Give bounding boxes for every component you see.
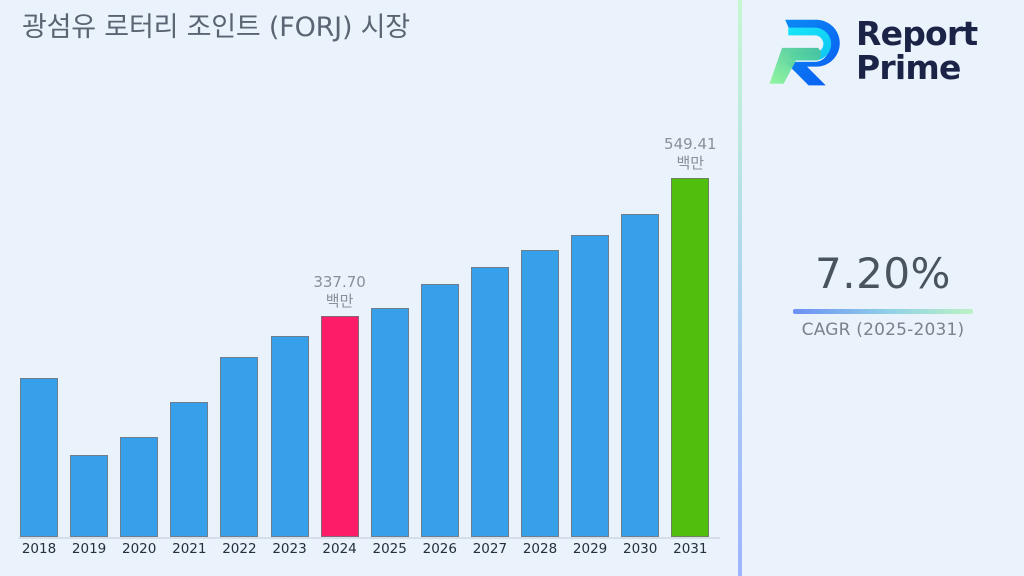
bar-group (170, 120, 208, 537)
cagr-value: 7.20% (742, 248, 1024, 301)
bar-2026 (421, 284, 459, 537)
cagr-divider-rule (793, 309, 973, 314)
bar-2020 (120, 437, 158, 537)
x-tick-2027: 2027 (473, 541, 507, 557)
brand-line-2: Prime (856, 48, 961, 87)
bar-2024 (321, 316, 359, 537)
page-title: 광섬유 로터리 조인트 (FORJ) 시장 (22, 10, 442, 46)
bar-2023 (271, 336, 309, 537)
x-tick-2024: 2024 (322, 541, 356, 557)
brand-logo: Report Prime (768, 8, 1004, 94)
bar-2019 (70, 455, 108, 537)
x-tick-2020: 2020 (122, 541, 156, 557)
bar-2029 (571, 235, 609, 537)
bar-value-unit: 백만 (676, 154, 704, 172)
bar-group (471, 120, 509, 537)
bar-series: 337.70백만549.41백만 (0, 120, 739, 537)
bar-group (421, 120, 459, 537)
x-tick-2019: 2019 (72, 541, 106, 557)
bar-2028 (521, 250, 559, 537)
bar-group (120, 120, 158, 537)
x-tick-2018: 2018 (22, 541, 56, 557)
bar-value: 337.70 (313, 273, 366, 291)
bar-group (220, 120, 258, 537)
x-tick-2031: 2031 (673, 541, 707, 557)
cagr-block: 7.20% CAGR (2025-2031) (742, 248, 1024, 340)
bar-2018 (20, 378, 58, 537)
bar-value-label-2031: 549.41백만 (664, 135, 717, 172)
bar-group: 337.70백만 (321, 120, 359, 537)
bar-2021 (170, 402, 208, 537)
x-axis-line (18, 537, 720, 539)
bar-2025 (371, 308, 409, 537)
plot-area: 337.70백만549.41백만 (0, 120, 739, 540)
bar-2027 (471, 267, 509, 537)
bar-2022 (220, 357, 258, 537)
x-tick-2025: 2025 (373, 541, 407, 557)
bar-group (20, 120, 58, 537)
side-panel: Report Prime 7.20% CAGR (2025-2031) (742, 0, 1024, 576)
bar-value-unit: 백만 (326, 292, 354, 310)
brand-name: Report Prime (856, 17, 977, 86)
chart-panel: 광섬유 로터리 조인트 (FORJ) 시장 337.70백만549.41백만 2… (0, 0, 739, 576)
x-tick-2023: 2023 (272, 541, 306, 557)
bar-group (571, 120, 609, 537)
bar-2031 (671, 178, 709, 537)
bar-group (371, 120, 409, 537)
chart-screenshot-root: 광섬유 로터리 조인트 (FORJ) 시장 337.70백만549.41백만 2… (0, 0, 1024, 576)
bar-group (621, 120, 659, 537)
bar-group (70, 120, 108, 537)
bar-group: 549.41백만 (671, 120, 709, 537)
x-tick-2028: 2028 (523, 541, 557, 557)
x-tick-2022: 2022 (222, 541, 256, 557)
x-tick-2021: 2021 (172, 541, 206, 557)
cagr-caption: CAGR (2025-2031) (742, 320, 1024, 340)
x-tick-2030: 2030 (623, 541, 657, 557)
bar-group (271, 120, 309, 537)
x-tick-2026: 2026 (423, 541, 457, 557)
bar-2030 (621, 214, 659, 537)
bar-group (521, 120, 559, 537)
bar-value: 549.41 (664, 135, 717, 153)
x-tick-2029: 2029 (573, 541, 607, 557)
report-prime-logo-icon (768, 12, 846, 90)
x-axis-tick-labels: 2018201920202021202220232024202520262027… (0, 541, 739, 571)
brand-line-1: Report (856, 14, 977, 53)
bar-value-label-2024: 337.70백만 (313, 273, 366, 310)
